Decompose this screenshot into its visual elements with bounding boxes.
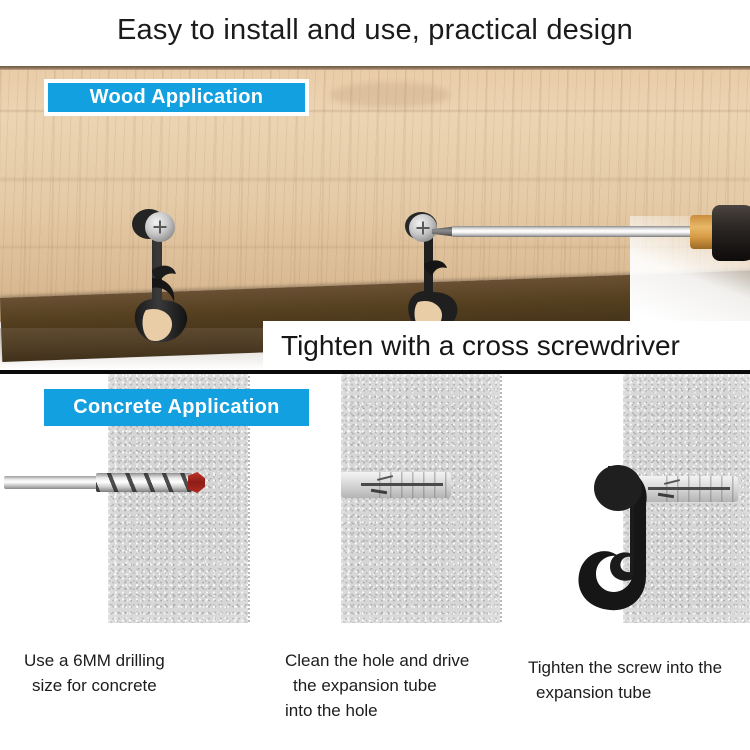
product-infographic: Easy to install and use, practical desig… [0,0,750,750]
page-title: Easy to install and use, practical desig… [0,14,750,47]
step-caption-3-line1: Tighten the screw into the [528,658,722,677]
step-caption-3: Tighten the screw into the expansion tub… [528,655,743,705]
step-caption-2-line3: into the hole [285,698,500,723]
screwdriver-handle-icon [712,205,750,261]
wood-grain-line [0,178,750,181]
step-caption-1-line1: Use a 6MM drilling [24,651,165,670]
step-caption-2-line1: Clean the hole and drive [285,651,469,670]
badge-wood-application: Wood Application [44,79,309,116]
expansion-tube-slot [361,483,443,486]
step-caption-3-line2: expansion tube [528,680,743,705]
wood-caption: Tighten with a cross screwdriver [263,321,750,370]
step-caption-1: Use a 6MM drilling size for concrete [24,648,239,698]
wood-caption-text: Tighten with a cross screwdriver [263,330,680,362]
drill-bit-flute [96,473,192,492]
screwdriver-shaft-icon [452,226,692,237]
hook-with-screw-icon [552,460,682,630]
step-caption-1-line2: size for concrete [24,673,239,698]
expansion-tube-icon [341,472,451,498]
column-divider [500,376,502,622]
screw-head-icon [145,212,175,242]
masonry-drill-bit-icon [4,476,100,489]
concrete-wall-icon [341,374,500,623]
step-caption-2: Clean the hole and drive the expansion t… [285,648,500,723]
step-caption-2-line2: the expansion tube [285,673,500,698]
screw-head-icon [409,214,437,242]
badge-concrete-application: Concrete Application [44,389,309,426]
wood-knot [330,82,450,108]
